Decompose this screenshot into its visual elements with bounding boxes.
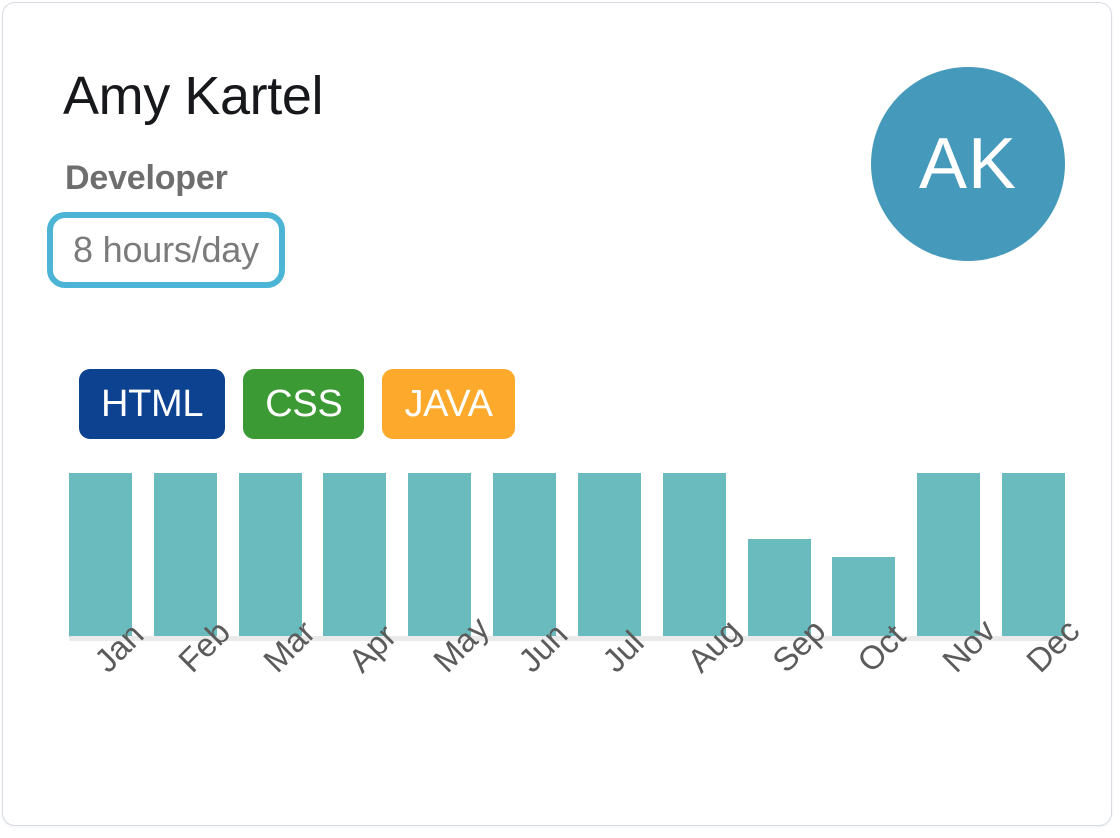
chart-xlabel-slot: Jun [493,645,556,755]
chart-bar-jun[interactable] [493,473,556,637]
chart-xlabel-slot: Aug [663,645,726,755]
profile-card: Amy Kartel Developer 8 hours/day AK HTML… [2,2,1112,826]
chart-xlabel-slot: Jul [578,645,641,755]
chart-bar-jan[interactable] [69,473,132,637]
person-role-label: Developer [65,159,228,198]
avatar[interactable]: AK [871,67,1065,261]
chart-bar-apr[interactable] [323,473,386,637]
skill-tag-java[interactable]: JAVA [382,369,514,439]
chart-bar-mar[interactable] [239,473,302,637]
chart-xlabel-slot: May [408,645,471,755]
hours-per-day-label: 8 hours/day [73,229,259,271]
skill-tag-list: HTMLCSSJAVA [79,369,515,439]
skill-tag-css[interactable]: CSS [243,369,364,439]
chart-plot-area [69,473,1065,637]
chart-x-axis-labels: JanFebMarAprMayJunJulAugSepOctNovDec [69,645,1065,755]
card-header: Amy Kartel Developer 8 hours/day AK [3,3,1111,303]
chart-bar-nov[interactable] [917,473,980,637]
chart-xlabel-slot: Apr [323,645,386,755]
chart-xlabel-slot: Sep [748,645,811,755]
chart-xlabel-slot: Nov [917,645,980,755]
chart-bar-may[interactable] [408,473,471,637]
chart-bar-dec[interactable] [1002,473,1065,637]
chart-bar-aug[interactable] [663,473,726,637]
chart-xlabel-slot: Jan [69,645,132,755]
hours-per-day-badge[interactable]: 8 hours/day [47,212,285,288]
chart-bar-feb[interactable] [154,473,217,637]
skill-tag-html[interactable]: HTML [79,369,225,439]
chart-xlabel-slot: Oct [832,645,895,755]
monthly-activity-bar-chart: JanFebMarAprMayJunJulAugSepOctNovDec [69,473,1065,793]
chart-xlabel-slot: Feb [154,645,217,755]
page-title: Amy Kartel [63,65,323,127]
avatar-initials: AK [919,123,1017,205]
chart-xlabel-slot: Dec [1002,645,1065,755]
chart-xlabel-slot: Mar [239,645,302,755]
chart-bar-jul[interactable] [578,473,641,637]
